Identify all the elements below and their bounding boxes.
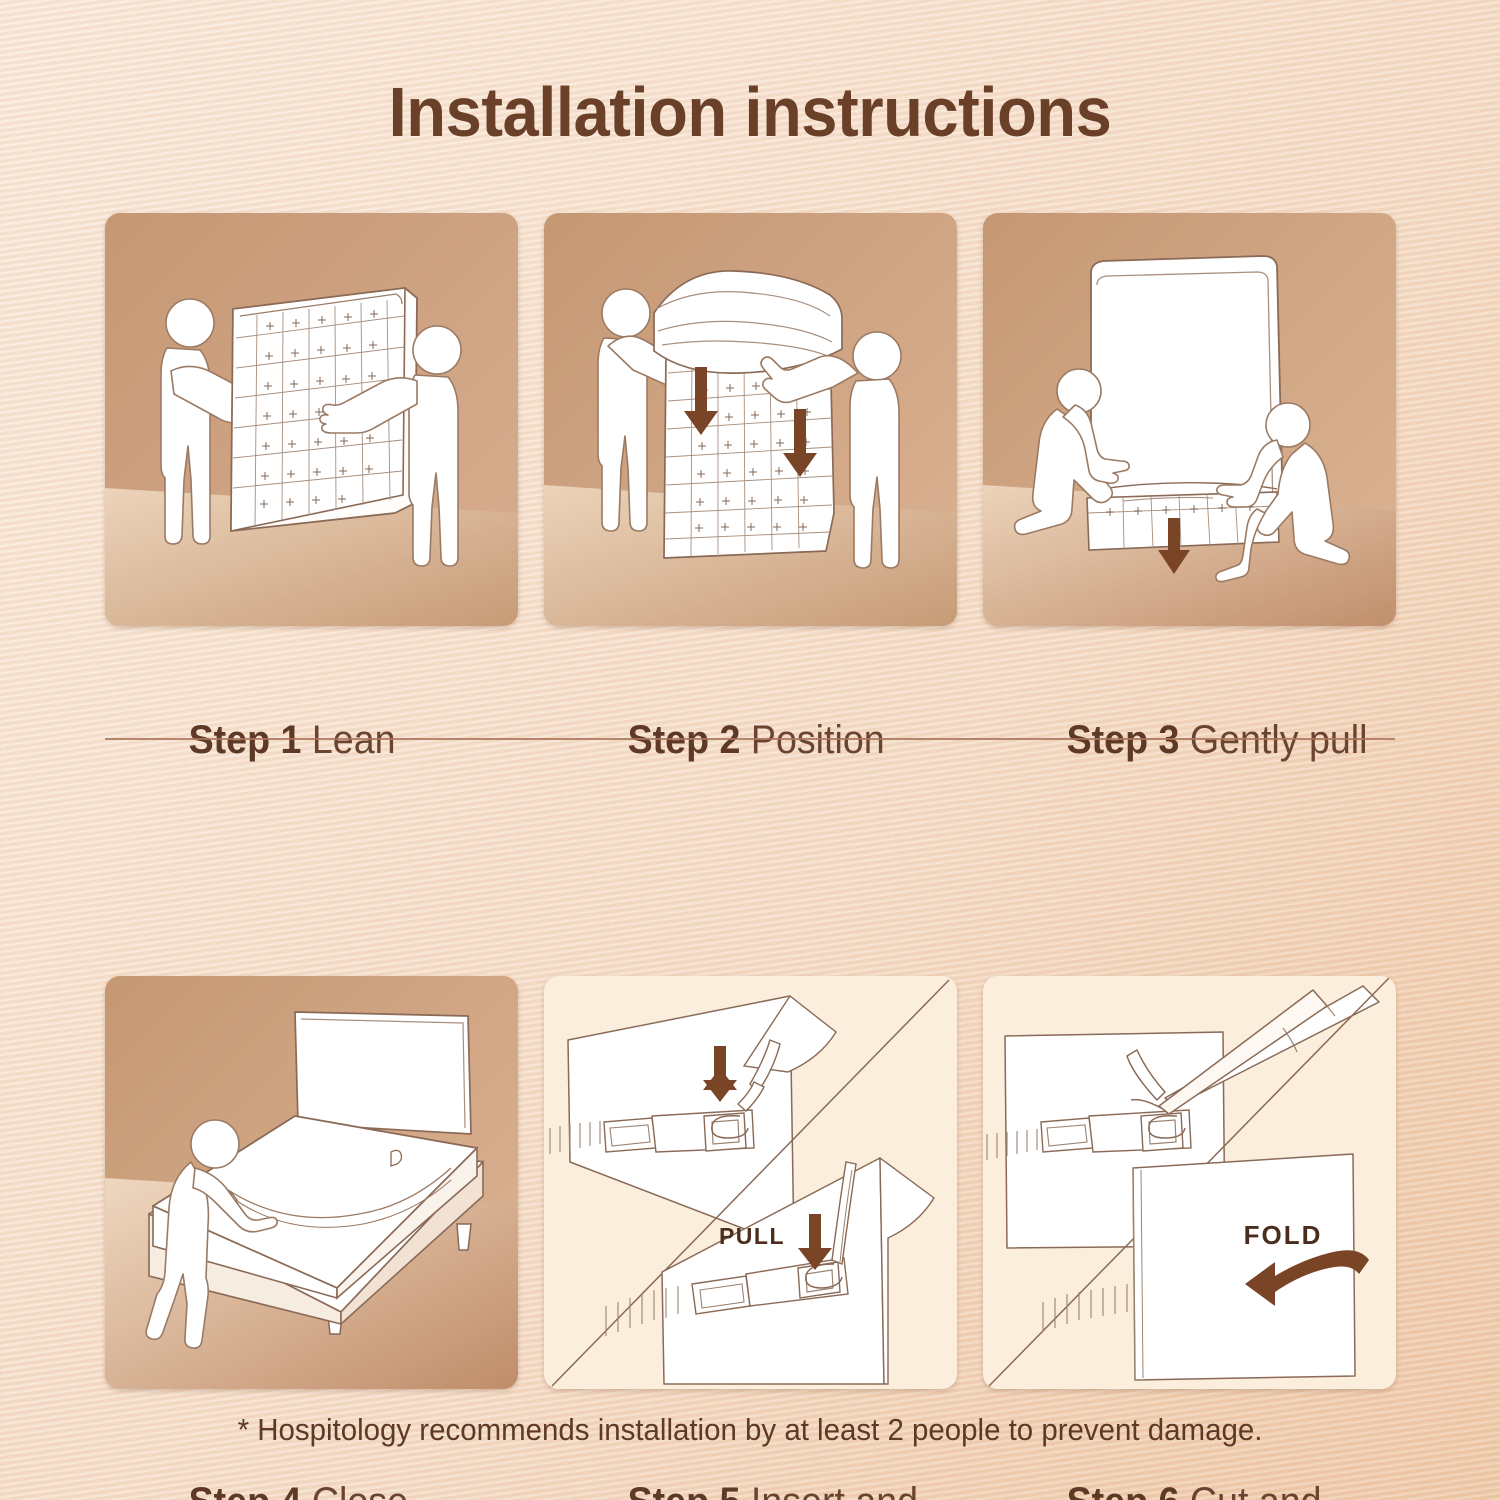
step-card-2: Step 2 Position [544,213,957,821]
step-caption-3: Step 3 Gently pull [983,660,1371,821]
step-number-6: Step 6 [1067,1480,1180,1500]
step-2-illustration [544,213,957,626]
fold-label: FOLD [1244,1220,1323,1250]
step-4-illustration [105,976,518,1389]
step-card-3: Step 3 Gently pull [983,213,1396,821]
pull-label: PULL [719,1223,785,1249]
page-title: Installation instructions [53,72,1448,152]
steps-grid: Step 1 Lean [105,213,1395,1500]
infographic-page: Installation instructions [0,0,1500,1500]
step-number-4: Step 4 [189,1480,302,1500]
step-3-illustration [983,213,1396,626]
step-card-1: Step 1 Lean [105,213,518,821]
footnote: * Hospitology recommends installation by… [38,1412,1463,1448]
step-caption-2: Step 2 Position [544,660,932,821]
row-divider [105,738,1395,740]
step-number-5: Step 5 [628,1480,741,1500]
step-caption-1: Step 1 Lean [105,660,493,821]
step-5-illustration: PULL [544,976,957,1389]
step-1-illustration [105,213,518,626]
step-6-illustration: FOLD [983,976,1396,1389]
